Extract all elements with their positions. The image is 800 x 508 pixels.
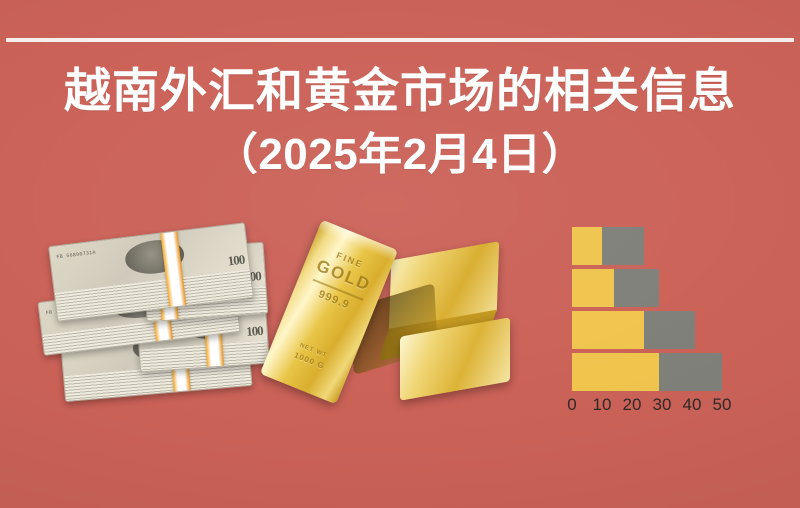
page-subtitle-date: （2025年2月4日） (0, 128, 800, 182)
banknote-serial: FB 56890731A (56, 250, 96, 261)
title-block: 越南外汇和黄金市场的相关信息 （2025年2月4日） (0, 62, 800, 182)
chart-bar-row (572, 269, 659, 307)
chart-bar-segment (572, 227, 602, 265)
chart-x-tick-label: 40 (683, 395, 702, 415)
chart-bar-segment (572, 311, 644, 349)
imagery-row: AG 90112654F KD 33471298B FB 56890731A (0, 205, 800, 415)
money-illustration: AG 90112654F KD 33471298B FB 56890731A (14, 220, 264, 400)
gold-bars-illustration: FINE GOLD 999.9 NET WT 1000 G (282, 223, 512, 403)
chart-x-tick-label: 30 (653, 395, 672, 415)
poster-canvas: 越南外汇和黄金市场的相关信息 （2025年2月4日） AG 90112654F … (0, 0, 800, 508)
chart-x-tick-label: 50 (713, 395, 732, 415)
page-title: 越南外汇和黄金市场的相关信息 (0, 62, 800, 120)
header-divider-rule (6, 38, 794, 42)
chart-bar-segment (572, 269, 614, 307)
chart-bar-segment (659, 353, 722, 391)
chart-x-tick-label: 10 (593, 395, 612, 415)
chart-bar-segment (602, 227, 644, 265)
chart-x-tick-label: 0 (567, 395, 576, 415)
chart-bar-row (572, 311, 695, 349)
chart-plot-area (572, 227, 732, 397)
chart-bar-segment (572, 353, 659, 391)
chart-x-axis: 01020304050 (560, 395, 760, 419)
chart-bar-row (572, 227, 644, 265)
chart-bar-segment (644, 311, 695, 349)
stacked-bar-chart: 01020304050 (560, 223, 760, 418)
chart-x-tick-label: 20 (623, 395, 642, 415)
chart-bar-row (572, 353, 722, 391)
chart-bar-segment (614, 269, 659, 307)
